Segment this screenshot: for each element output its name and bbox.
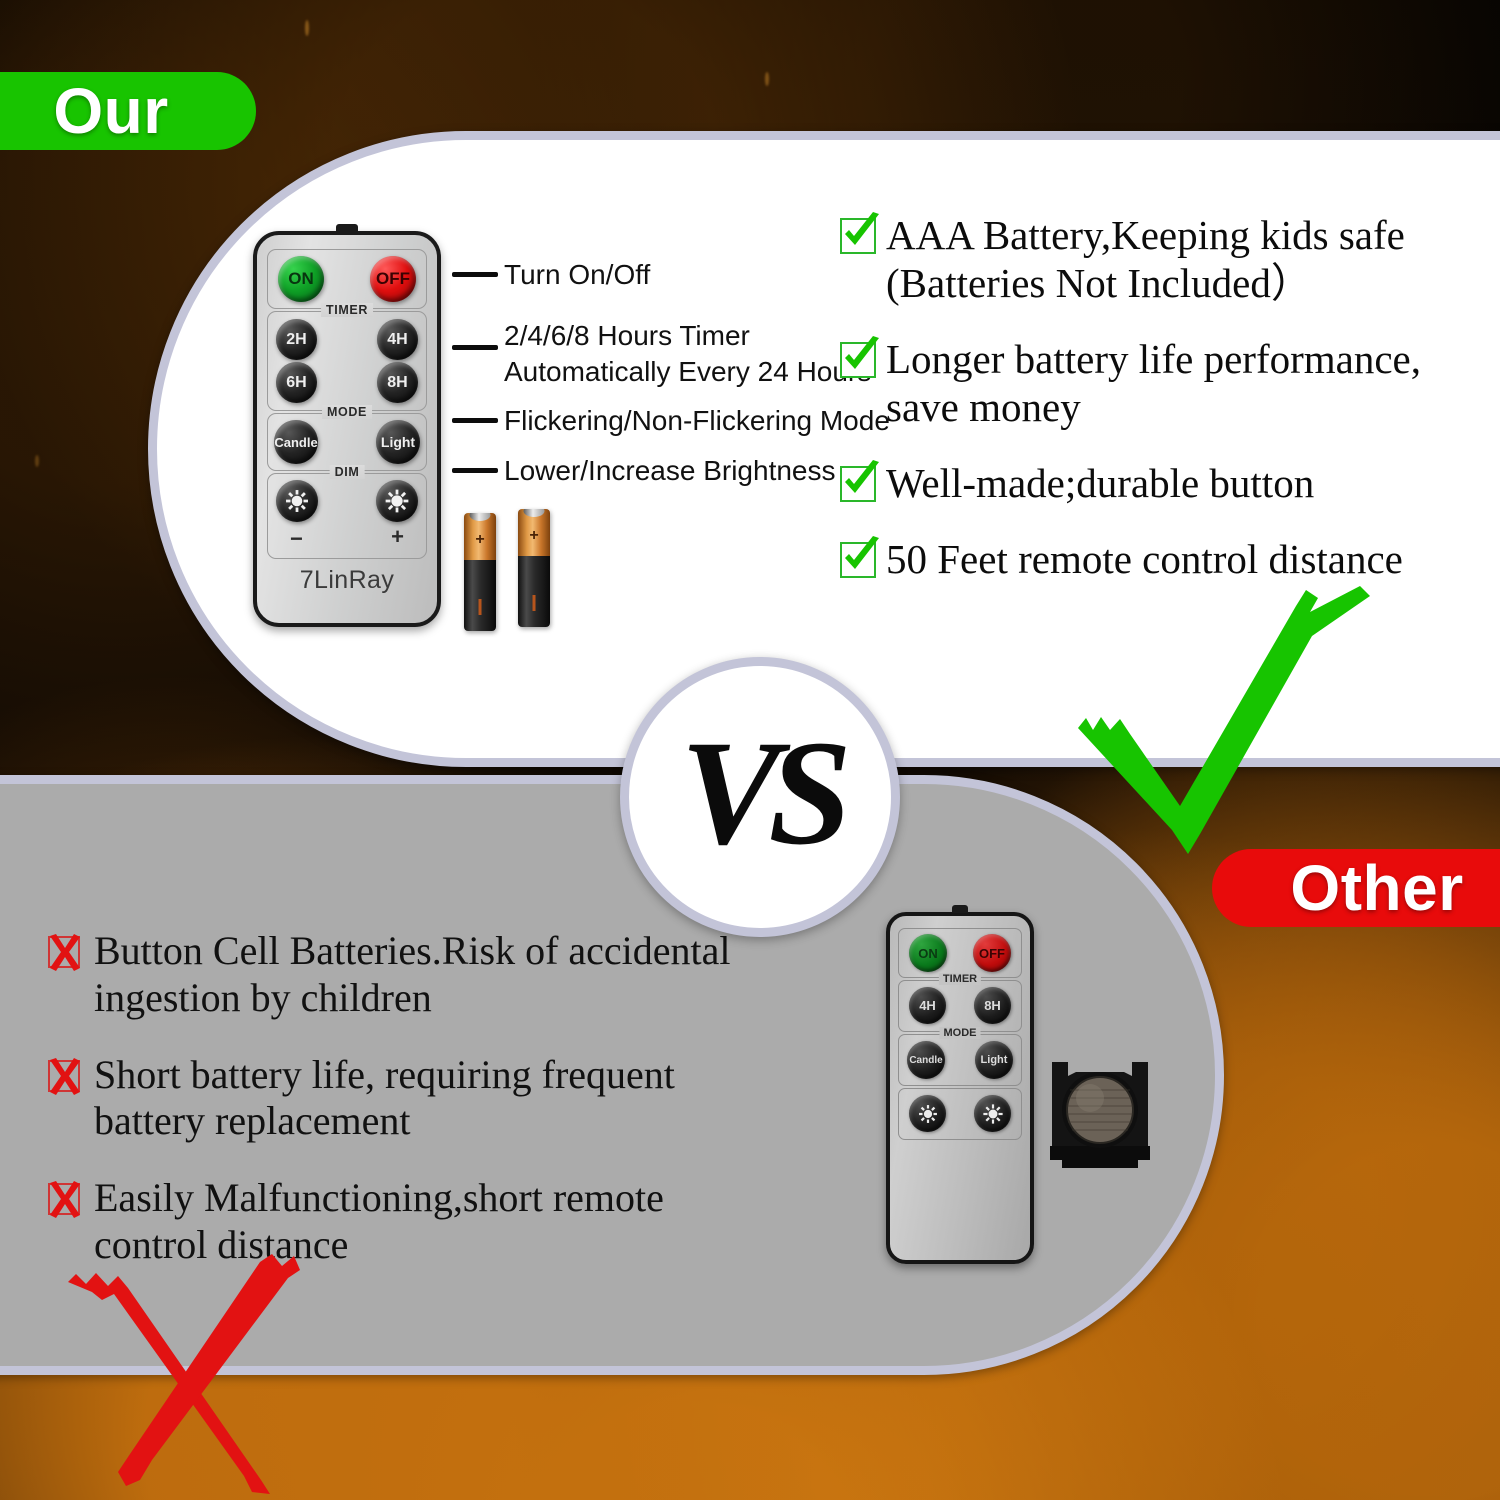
other-button-dim-down[interactable] [909, 1095, 946, 1132]
ir-emitter-icon [952, 905, 968, 913]
light-spark [305, 20, 309, 36]
approved-brush-check-icon [1060, 578, 1380, 878]
timer-group-label: TIMER [321, 303, 373, 317]
aaa-battery: + [518, 509, 550, 627]
leader-line [452, 418, 498, 423]
button-dim-up[interactable] [376, 480, 418, 522]
other-button-mode-candle[interactable]: Candle [907, 1041, 945, 1079]
button-on[interactable]: ON [278, 256, 324, 302]
button-timer-4h[interactable]: 4H [377, 319, 418, 360]
other-button-dim-up[interactable] [974, 1095, 1011, 1132]
power-group: ON OFF [267, 249, 427, 309]
infographic-canvas: Our ON OFF TIMER 2H 4H 6H 8 [0, 0, 1500, 1500]
button-cell-battery [1046, 1042, 1154, 1174]
button-timer-6h[interactable]: 6H [276, 362, 317, 403]
battery-polarity-label: + [464, 532, 496, 548]
badge-our-label: Our [53, 74, 168, 148]
other-button-on[interactable]: ON [909, 934, 947, 972]
light-spark [35, 455, 39, 467]
pro-item-text: Well-made;durable button [886, 460, 1314, 508]
ir-emitter-icon [336, 224, 358, 233]
leader-line [452, 345, 498, 350]
battery-body [464, 560, 496, 631]
dim-plus-label: + [391, 524, 404, 550]
mode-group: MODE Candle Light [267, 413, 427, 471]
leader-line [452, 272, 498, 277]
con-item: Button Cell Batteries.Risk of accidental… [48, 928, 808, 1022]
checkmark-icon [840, 218, 876, 254]
pro-item: Well-made;durable button [840, 460, 1500, 508]
button-dim-down[interactable] [276, 480, 318, 522]
vs-label: VS [680, 718, 839, 868]
dim-minus-label: − [290, 526, 303, 552]
battery-stripe [533, 595, 536, 611]
pro-item-text: AAA Battery,Keeping kids safe (Batteries… [886, 212, 1405, 308]
other-remote-control: ON OFF TIMER 4H 8H MODE Candle Light [886, 912, 1034, 1264]
mode-group-label: MODE [322, 405, 372, 419]
badge-our: Our [0, 72, 256, 150]
pro-item-text: Longer battery life performance, save mo… [886, 336, 1421, 432]
other-timer-group: TIMER 4H 8H [898, 980, 1022, 1032]
checkmark-icon [840, 466, 876, 502]
callout-timer: 2/4/6/8 Hours Timer Automatically Every … [504, 318, 871, 390]
other-power-group: ON OFF [898, 928, 1022, 978]
checkmark-icon [840, 542, 876, 578]
other-button-timer-8h[interactable]: 8H [974, 987, 1011, 1024]
battery-stripe [479, 599, 482, 615]
pro-item: AAA Battery,Keeping kids safe (Batteries… [840, 212, 1500, 308]
dim-group: DIM [267, 473, 427, 559]
button-timer-8h[interactable]: 8H [377, 362, 418, 403]
pros-list: AAA Battery,Keeping kids safe (Batteries… [840, 212, 1500, 612]
other-button-mode-light[interactable]: Light [975, 1041, 1013, 1079]
remote-brand-label: 7LinRay [257, 566, 437, 595]
button-timer-2h[interactable]: 2H [276, 319, 317, 360]
other-button-off[interactable]: OFF [973, 934, 1011, 972]
cons-list: Button Cell Batteries.Risk of accidental… [48, 928, 808, 1299]
our-remote-control: ON OFF TIMER 2H 4H 6H 8H MODE [253, 231, 441, 627]
battery-polarity-label: + [518, 528, 550, 544]
battery-body [518, 556, 550, 627]
checkmark-icon [840, 342, 876, 378]
cross-icon [48, 1060, 80, 1092]
callout-power: Turn On/Off [504, 257, 650, 293]
con-item-text: Button Cell Batteries.Risk of accidental… [94, 928, 731, 1022]
other-timer-label: TIMER [939, 973, 981, 985]
other-button-timer-4h[interactable]: 4H [909, 987, 946, 1024]
callout-dim: Lower/Increase Brightness [504, 453, 836, 489]
button-mode-candle[interactable]: Candle [274, 420, 318, 464]
other-mode-label: MODE [940, 1027, 981, 1039]
pro-item-text: 50 Feet remote control distance [886, 536, 1403, 584]
timer-group: TIMER 2H 4H 6H 8H [267, 311, 427, 411]
con-item-text: Short battery life, requiring frequent b… [94, 1052, 675, 1146]
con-item: Short battery life, requiring frequent b… [48, 1052, 808, 1146]
cross-icon [48, 1183, 80, 1215]
leader-line [452, 468, 498, 473]
button-off[interactable]: OFF [370, 256, 416, 302]
dim-group-label: DIM [330, 465, 365, 479]
rejected-brush-cross-icon [56, 1248, 346, 1498]
light-spark [765, 72, 769, 86]
other-mode-group: MODE Candle Light [898, 1034, 1022, 1086]
cross-icon [48, 936, 80, 968]
vs-badge: VS [620, 657, 900, 937]
button-mode-light[interactable]: Light [376, 420, 420, 464]
pro-item: Longer battery life performance, save mo… [840, 336, 1500, 432]
aaa-battery: + [464, 513, 496, 631]
pro-item: 50 Feet remote control distance [840, 536, 1500, 584]
callout-mode: Flickering/Non-Flickering Mode [504, 403, 890, 439]
other-dim-group [898, 1088, 1022, 1140]
